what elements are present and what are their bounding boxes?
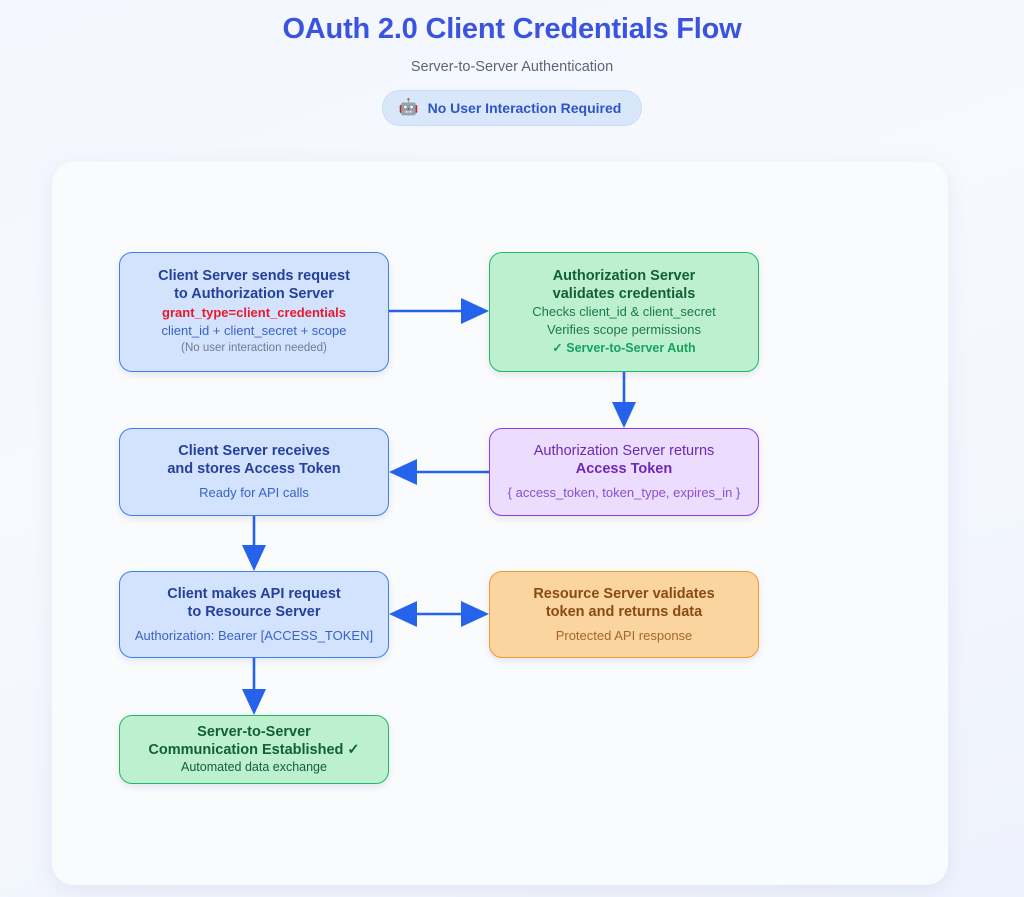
node-title-line-1: Client Server receives: [120, 442, 388, 460]
node-title-line-1: Client makes API request: [120, 585, 388, 603]
status-badge-label: No User Interaction Required: [428, 99, 622, 117]
node-resource-server-validates[interactable]: Resource Server validates token and retu…: [489, 571, 759, 658]
node-title-regular: Authorization Server returns: [490, 442, 758, 460]
node-title-line-1: Authorization Server: [490, 267, 758, 285]
node-client-sends-request[interactable]: Client Server sends request to Authoriza…: [119, 252, 389, 372]
node-detail-line-1: Authorization: Bearer [ACCESS_TOKEN]: [120, 627, 388, 645]
node-authorization-server-validates[interactable]: Authorization Server validates credentia…: [489, 252, 759, 372]
arrow-auth-to-token: [609, 372, 639, 428]
page-title: OAuth 2.0 Client Credentials Flow: [0, 6, 1024, 54]
node-authorization-server-returns-token[interactable]: Authorization Server returns Access Toke…: [489, 428, 759, 516]
node-communication-established[interactable]: Server-to-Server Communication Establish…: [119, 715, 389, 784]
node-title-line-2: and stores Access Token: [120, 460, 388, 478]
node-title-bold: Access Token: [490, 460, 758, 478]
node-title-line-1: Server-to-Server: [120, 723, 388, 741]
node-detail-line-1: Ready for API calls: [120, 484, 388, 502]
status-badge: 🤖 No User Interaction Required: [382, 90, 643, 126]
node-detail-line-1: { access_token, token_type, expires_in }: [490, 484, 758, 502]
node-detail-line-1: client_id + client_secret + scope: [120, 322, 388, 340]
arrow-api-to-resource: [389, 599, 489, 629]
page-subtitle: Server-to-Server Authentication: [0, 54, 1024, 77]
arrow-api-to-established: [239, 658, 269, 715]
node-title-line-1: Client Server sends request: [120, 267, 388, 285]
node-check-line: ✓ Server-to-Server Auth: [490, 339, 758, 357]
node-title-line-2: to Authorization Server: [120, 285, 388, 303]
node-title-line-2: to Resource Server: [120, 603, 388, 621]
node-detail-line-2: Verifies scope permissions: [490, 321, 758, 339]
node-title-line-2: Communication Established ✓: [120, 741, 388, 759]
node-client-makes-api-request[interactable]: Client makes API request to Resource Ser…: [119, 571, 389, 658]
arrow-token-to-client: [389, 457, 489, 487]
node-highlight-text: grant_type=client_credentials: [120, 303, 388, 322]
node-client-receives-token[interactable]: Client Server receives and stores Access…: [119, 428, 389, 516]
node-title-line-2: token and returns data: [490, 603, 758, 621]
node-detail-line-1: Checks client_id & client_secret: [490, 303, 758, 321]
robot-icon: 🤖: [399, 100, 419, 116]
page-header: OAuth 2.0 Client Credentials Flow Server…: [0, 0, 1024, 126]
node-detail-line-1: Automated data exchange: [120, 759, 388, 776]
arrow-request-to-auth: [389, 296, 489, 326]
node-title-line-2: validates credentials: [490, 285, 758, 303]
node-title-line-1: Resource Server validates: [490, 585, 758, 603]
node-note: (No user interaction needed): [120, 340, 388, 357]
arrow-client-to-api: [239, 516, 269, 571]
node-detail-line-1: Protected API response: [490, 627, 758, 645]
